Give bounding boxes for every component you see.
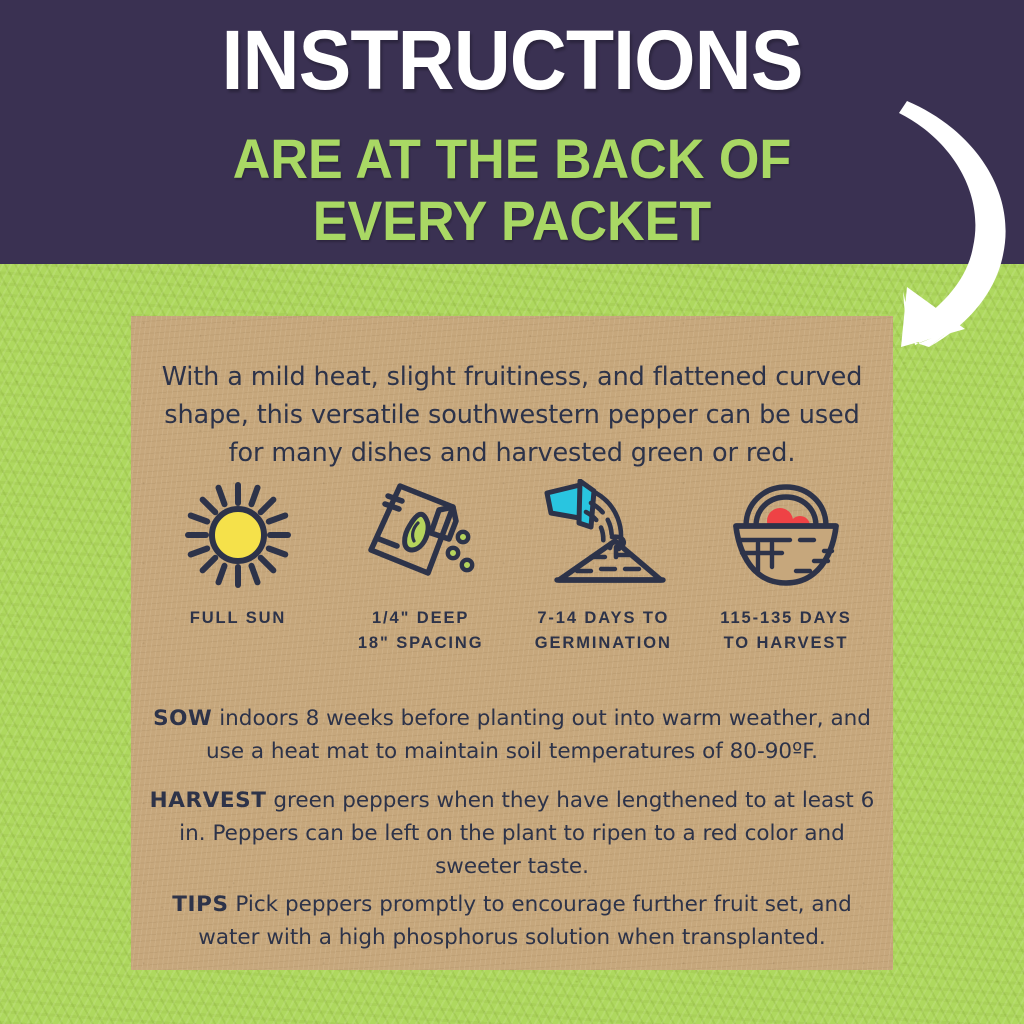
info-item-harvest: 115-135 DAYS TO HARVEST [695, 476, 877, 656]
harvest-basket-icon-wrap [728, 476, 844, 594]
label-line2: TO HARVEST [724, 634, 849, 652]
label-line2: GERMINATION [535, 634, 672, 652]
instruction-block-tips: TIPS Pick peppers promptly to encourage … [145, 888, 879, 954]
instruction-heading-harvest: HARVEST [150, 788, 267, 813]
info-label-germination: 7-14 DAYS TO GERMINATION [535, 606, 672, 656]
header-subtitle-line1: ARE AT THE BACK OF [233, 127, 791, 190]
sun-icon [182, 479, 294, 591]
label-line1: 115-135 DAYS [720, 609, 851, 627]
growing-info-icon-row: FULL SUN [147, 476, 877, 656]
instruction-card: With a mild heat, slight fruitiness, and… [131, 316, 893, 970]
info-item-full-sun: FULL SUN [147, 476, 329, 631]
label-line1: FULL SUN [190, 609, 286, 627]
seed-packet-instructions-graphic: INSTRUCTIONS ARE AT THE BACK OF EVERY PA… [0, 0, 1024, 1024]
instruction-block-sow: SOW indoors 8 weeks before planting out … [145, 702, 879, 768]
intro-paragraph: With a mild heat, slight fruitiness, and… [145, 358, 879, 472]
instruction-body-harvest: green peppers when they have lengthened … [179, 788, 874, 879]
sun-icon-wrap [182, 476, 294, 594]
seed-packet-icon-wrap [361, 476, 481, 594]
info-item-seed-depth: 1/4" DEEP 18" SPACING [330, 476, 512, 656]
seed-packet-icon [361, 479, 481, 591]
watering-can-icon-wrap [539, 476, 667, 594]
info-label-full-sun: FULL SUN [190, 606, 286, 631]
instruction-body-sow: indoors 8 weeks before planting out into… [206, 706, 871, 764]
label-line1: 1/4" DEEP [372, 609, 469, 627]
instruction-heading-tips: TIPS [172, 892, 228, 917]
instruction-block-harvest: HARVEST green peppers when they have len… [145, 784, 879, 883]
instruction-heading-sow: SOW [153, 706, 212, 731]
harvest-basket-icon [728, 479, 844, 591]
label-line1: 7-14 DAYS TO [537, 609, 669, 627]
info-label-harvest: 115-135 DAYS TO HARVEST [720, 606, 851, 656]
info-item-germination: 7-14 DAYS TO GERMINATION [512, 476, 694, 656]
label-line2: 18" SPACING [358, 634, 484, 652]
info-label-seed-depth: 1/4" DEEP 18" SPACING [358, 606, 484, 656]
watering-can-icon [539, 479, 667, 591]
instruction-body-tips: Pick peppers promptly to encourage furth… [198, 892, 852, 950]
page-title: INSTRUCTIONS [31, 14, 994, 106]
